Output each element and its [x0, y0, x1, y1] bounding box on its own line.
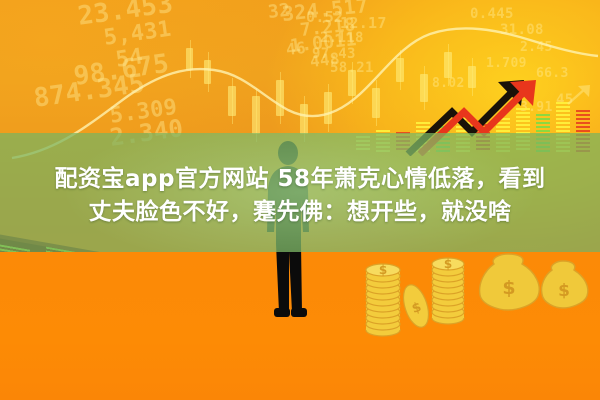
gold-coins-and-money-bags-icon: $ $ $ $ — [362, 246, 600, 356]
coin: $ — [399, 282, 434, 331]
svg-text:$: $ — [379, 263, 387, 277]
money-bag-icon: $ — [542, 261, 588, 308]
coin-stack: $ — [432, 257, 464, 324]
svg-text:$: $ — [502, 277, 515, 299]
small-arrow-icon — [568, 85, 590, 104]
image-canvas: 23.4535,4315498.675874.3455.3092.340324.… — [0, 0, 600, 400]
svg-text:$: $ — [558, 281, 570, 301]
money-bag-icon: $ — [480, 254, 540, 310]
headline-line-2: 丈夫脸色不好，蹇先佛：想开些，就没啥 — [89, 199, 512, 226]
headline-line-1: 配资宝app官方网站 58年萧克心情低落，看到 — [55, 166, 546, 193]
coin-stack: $ — [366, 263, 400, 336]
svg-text:$: $ — [444, 257, 452, 271]
headline-text: 配资宝app官方网站 58年萧克心情低落，看到 丈夫脸色不好，蹇先佛：想开些，就… — [0, 152, 600, 240]
